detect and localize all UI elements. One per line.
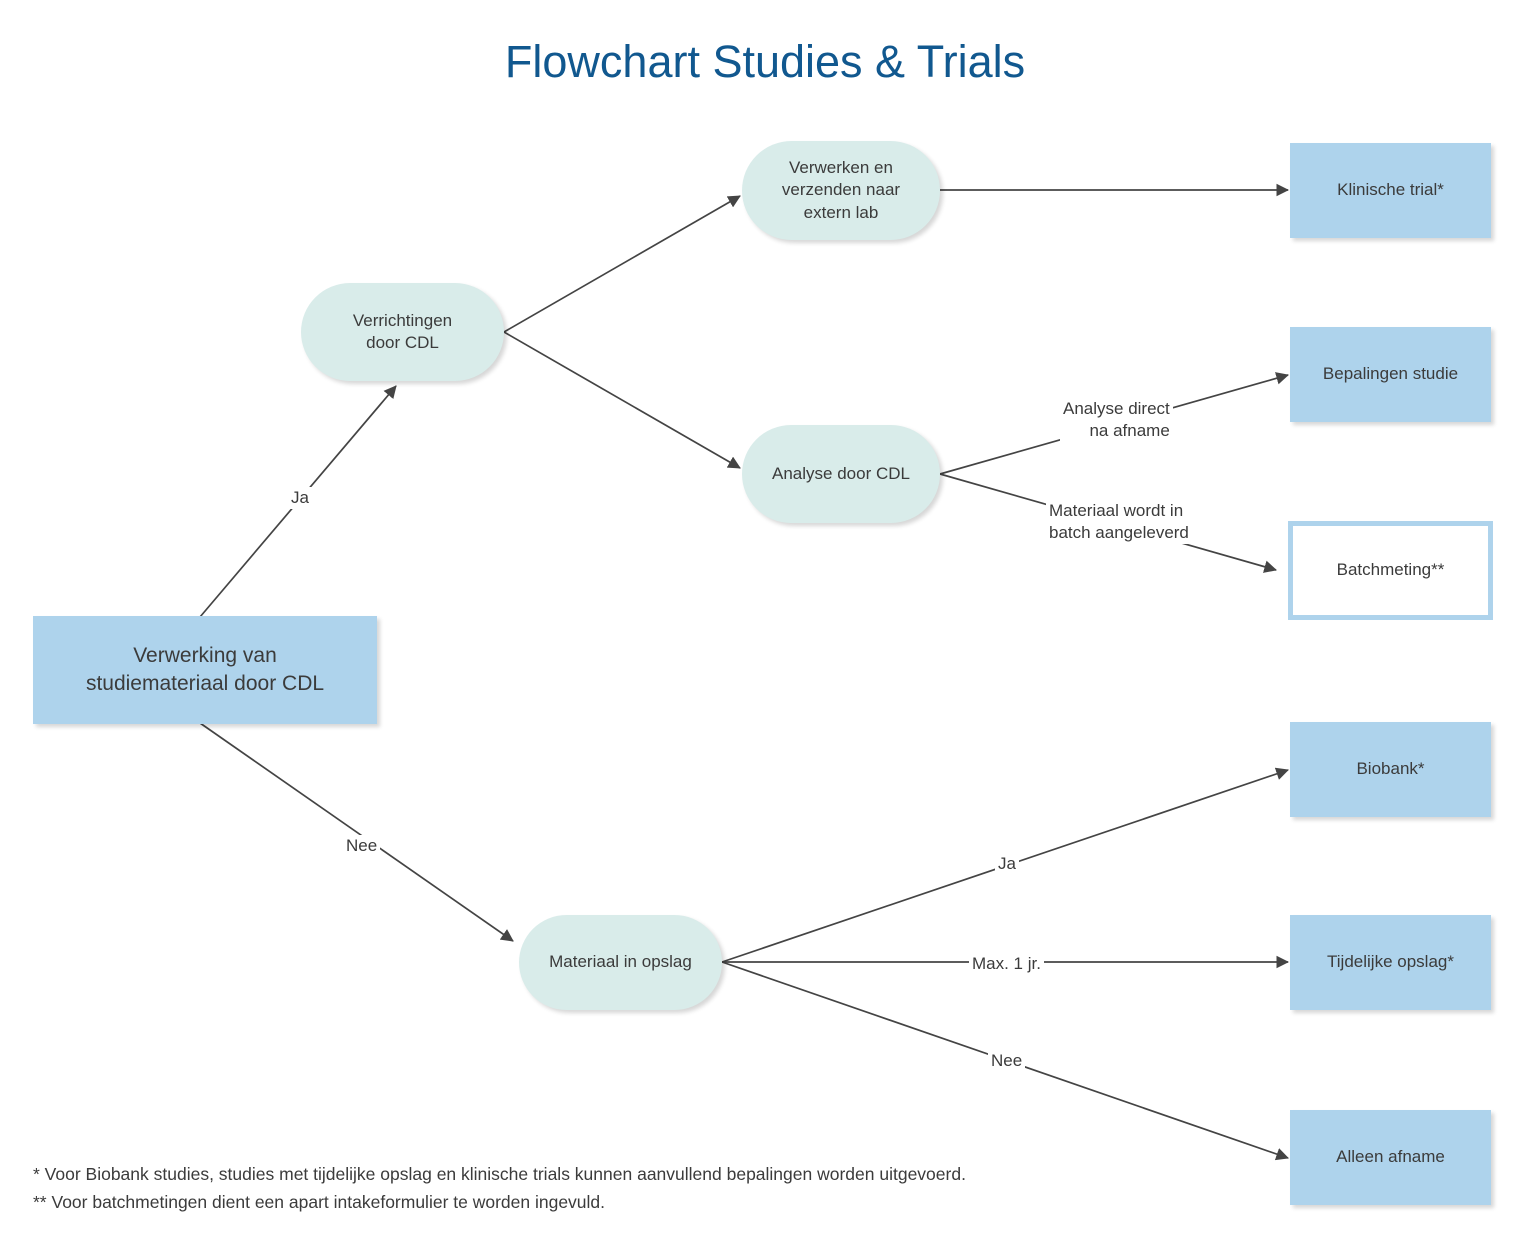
node-alleen-afname-label: Alleen afname (1326, 1146, 1455, 1168)
footnotes: * Voor Biobank studies, studies met tijd… (33, 1160, 966, 1217)
node-tijdelijke-opslag[interactable]: Tijdelijke opslag* (1290, 915, 1491, 1010)
footnote-two: ** Voor batchmetingen dient een apart in… (33, 1188, 966, 1216)
node-start-label: Verwerking van studiemateriaal door CDL (76, 642, 334, 697)
node-materiaal-in-opslag[interactable]: Materiaal in opslag (519, 915, 722, 1010)
edge-label-analyse-direct: Analyse direct na afname (1060, 398, 1173, 442)
page-title: Flowchart Studies & Trials (0, 36, 1530, 88)
node-klinische-trial[interactable]: Klinische trial* (1290, 143, 1491, 238)
node-biobank-label: Biobank* (1346, 758, 1434, 780)
node-analyse[interactable]: Analyse door CDL (742, 425, 940, 523)
node-alleen-afname[interactable]: Alleen afname (1290, 1110, 1491, 1205)
edge-label-ja-top: Ja (288, 487, 312, 509)
node-analyse-label: Analyse door CDL (762, 463, 920, 485)
node-start[interactable]: Verwerking van studiemateriaal door CDL (33, 616, 377, 724)
node-verwerken-extern-lab[interactable]: Verwerken en verzenden naar extern lab (742, 141, 940, 240)
flowchart-canvas: Flowchart Studies & Trials (0, 0, 1530, 1259)
node-materiaal-in-opslag-label: Materiaal in opslag (539, 951, 702, 973)
node-batchmeting-label: Batchmeting** (1327, 559, 1455, 581)
edge-verrichtingen-analyse (504, 332, 740, 468)
node-klinische-trial-label: Klinische trial* (1327, 179, 1454, 201)
node-bepalingen-studie[interactable]: Bepalingen studie (1290, 327, 1491, 422)
edge-label-batch-aangeleverd: Materiaal wordt in batch aangeleverd (1046, 500, 1192, 544)
edge-label-nee-afname: Nee (988, 1050, 1025, 1072)
edge-start-opslag (200, 723, 513, 941)
footnote-one: * Voor Biobank studies, studies met tijd… (33, 1160, 966, 1188)
node-biobank[interactable]: Biobank* (1290, 722, 1491, 817)
node-bepalingen-studie-label: Bepalingen studie (1313, 363, 1468, 385)
edge-label-max-1jr: Max. 1 jr. (969, 953, 1044, 975)
edge-verrichtingen-verwerken (504, 196, 740, 332)
node-verrichtingen-label: Verrichtingen door CDL (343, 310, 462, 355)
node-verwerken-extern-lab-label: Verwerken en verzenden naar extern lab (772, 157, 910, 224)
node-batchmeting[interactable]: Batchmeting** (1288, 521, 1493, 620)
node-verrichtingen[interactable]: Verrichtingen door CDL (301, 283, 504, 381)
edge-label-nee-bottom: Nee (343, 835, 380, 857)
edge-label-ja-biobank: Ja (995, 853, 1019, 875)
node-tijdelijke-opslag-label: Tijdelijke opslag* (1317, 951, 1464, 973)
